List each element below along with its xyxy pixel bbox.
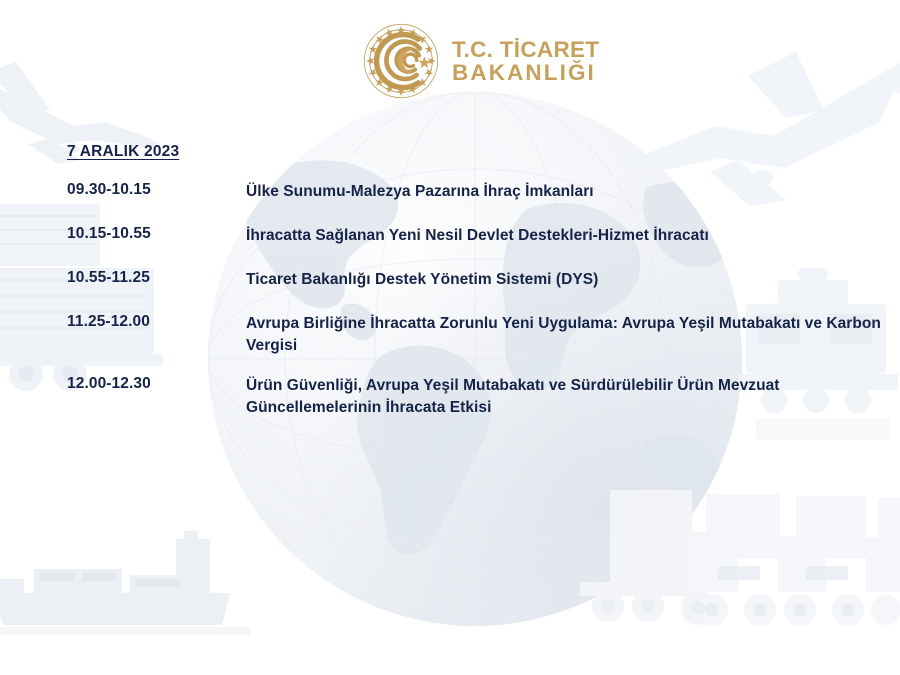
session-title: Avrupa Birliğine İhracatta Zorunlu Yeni … — [246, 313, 886, 357]
session-time: 10.15-10.55 — [67, 225, 246, 243]
slide-content: 7 ARALIK 2023 09.30-10.15 Ülke Sunumu-Ma… — [0, 0, 900, 675]
schedule-row: 10.15-10.55 İhracatta Sağlanan Yeni Nesi… — [67, 225, 887, 247]
session-title: Ürün Güvenliği, Avrupa Yeşil Mutabakatı … — [246, 375, 886, 419]
schedule-row: 11.25-12.00 Avrupa Birliğine İhracatta Z… — [67, 313, 887, 357]
schedule-row: 10.55-11.25 Ticaret Bakanlığı Destek Yön… — [67, 269, 887, 291]
session-time: 12.00-12.30 — [67, 375, 246, 393]
session-title: İhracatta Sağlanan Yeni Nesil Devlet Des… — [246, 225, 886, 247]
date-heading: 7 ARALIK 2023 — [67, 143, 179, 161]
schedule-row: 09.30-10.15 Ülke Sunumu-Malezya Pazarına… — [67, 181, 887, 203]
schedule-list: 09.30-10.15 Ülke Sunumu-Malezya Pazarına… — [67, 181, 887, 437]
schedule-row: 12.00-12.30 Ürün Güvenliği, Avrupa Yeşil… — [67, 375, 887, 419]
session-title: Ülke Sunumu-Malezya Pazarına İhraç İmkan… — [246, 181, 886, 203]
presentation-slide: T.C. TİCARET BAKANLIĞI 7 ARALIK 2023 09.… — [0, 0, 900, 675]
session-time: 10.55-11.25 — [67, 269, 246, 287]
session-time: 11.25-12.00 — [67, 313, 246, 331]
session-time: 09.30-10.15 — [67, 181, 246, 199]
session-title: Ticaret Bakanlığı Destek Yönetim Sistemi… — [246, 269, 886, 291]
